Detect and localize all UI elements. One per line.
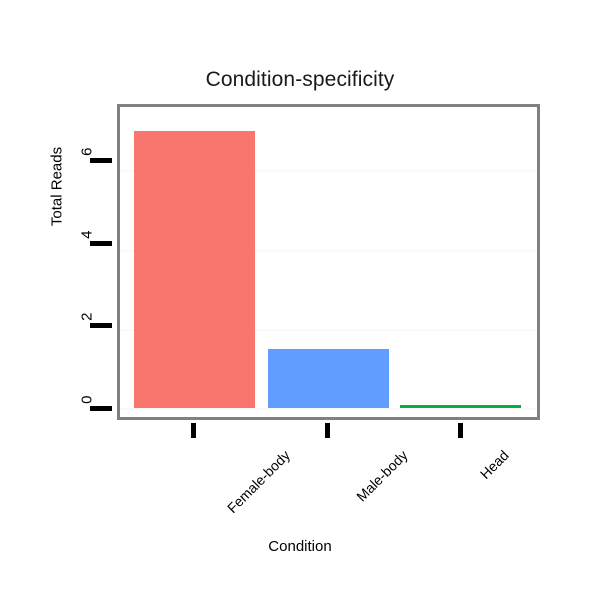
y-tick-label-0: 0 xyxy=(79,396,96,422)
x-tick-mark-male-body xyxy=(325,423,330,438)
y-tick-label-2: 2 xyxy=(79,313,96,339)
bar-male-body[interactable] xyxy=(268,349,389,408)
x-tick-mark-head xyxy=(458,423,463,438)
x-axis-title: Condition xyxy=(0,538,600,555)
x-tick-label-head: Head xyxy=(477,447,512,482)
y-axis-title: Total Reads xyxy=(49,102,66,272)
chart-title: Condition-specificity xyxy=(0,68,600,92)
plot-area xyxy=(120,107,537,417)
bar-head[interactable] xyxy=(400,405,521,408)
x-tick-label-male-body: Male-body xyxy=(353,447,411,505)
gridline-y0 xyxy=(120,408,537,410)
chart-figure: Condition-specificity Total Reads 6 4 2 … xyxy=(0,0,600,600)
x-tick-mark-female-body xyxy=(191,423,196,438)
x-tick-label-female-body: Female-body xyxy=(224,447,293,516)
y-tick-label-6: 6 xyxy=(79,148,96,174)
bar-female-body[interactable] xyxy=(134,131,255,408)
y-tick-label-4: 4 xyxy=(79,231,96,257)
plot-panel xyxy=(117,104,540,420)
